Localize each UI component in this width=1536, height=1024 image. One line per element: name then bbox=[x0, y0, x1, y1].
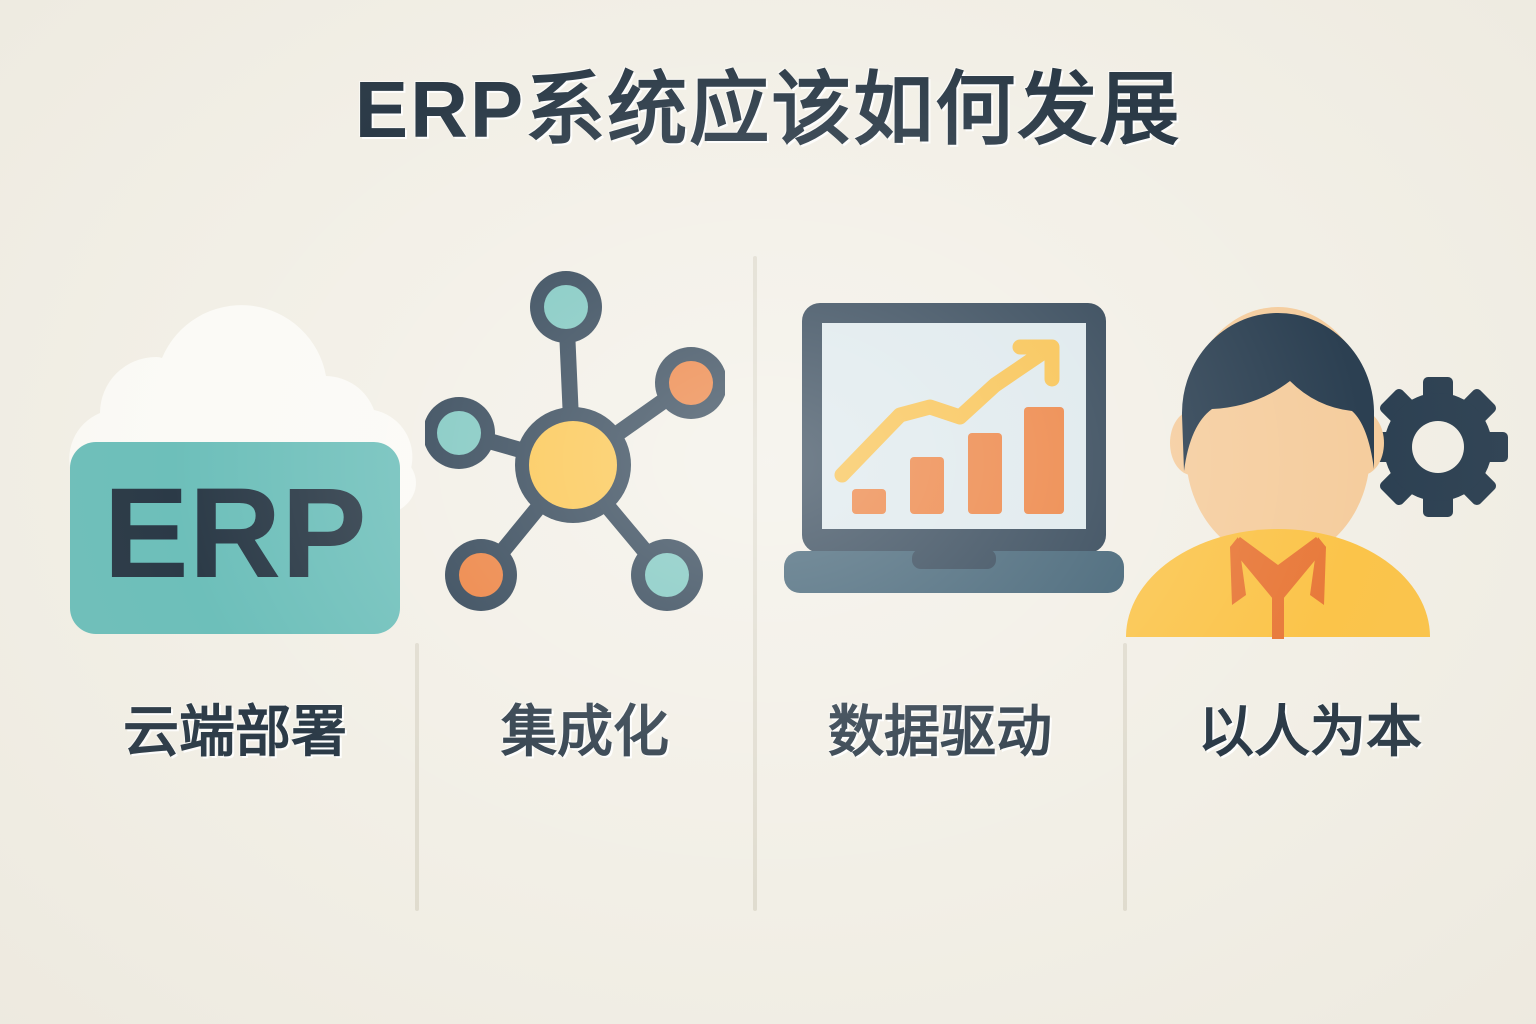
network-hub-node bbox=[515, 407, 631, 523]
chart-bar-4 bbox=[1024, 407, 1064, 514]
chart-bar-2 bbox=[910, 457, 944, 514]
network-node-top bbox=[530, 271, 602, 343]
network-node-right bbox=[655, 347, 725, 419]
column-label-integration: 集成化 bbox=[420, 700, 750, 764]
erp-badge: ERP bbox=[70, 442, 400, 634]
chart-bar-3 bbox=[968, 433, 1002, 514]
column-divider-1 bbox=[415, 643, 419, 911]
network-nodes-icon bbox=[425, 255, 725, 625]
cloud-erp-icon: ERP bbox=[60, 225, 420, 645]
laptop-base bbox=[784, 549, 1124, 593]
column-divider-3 bbox=[1123, 643, 1127, 911]
network-node-bottom-right bbox=[631, 539, 703, 611]
person-gear-icon bbox=[1120, 265, 1510, 645]
chart-bar-1 bbox=[852, 489, 886, 514]
person-placket bbox=[1272, 595, 1284, 639]
network-node-left bbox=[425, 397, 495, 469]
column-label-data-driven: 数据驱动 bbox=[760, 700, 1120, 764]
column-divider-2 bbox=[753, 256, 757, 911]
page-title: ERP系统应该如何发展 bbox=[0, 70, 1536, 150]
erp-badge-label: ERP bbox=[103, 462, 366, 605]
infographic-canvas: ERP系统应该如何发展 ERP bbox=[0, 0, 1536, 1024]
laptop-chart-icon bbox=[780, 295, 1130, 605]
column-label-people-first: 以人为本 bbox=[1130, 700, 1490, 764]
network-node-bottom-left bbox=[445, 539, 517, 611]
column-label-cloud-deployment: 云端部署 bbox=[60, 700, 410, 764]
